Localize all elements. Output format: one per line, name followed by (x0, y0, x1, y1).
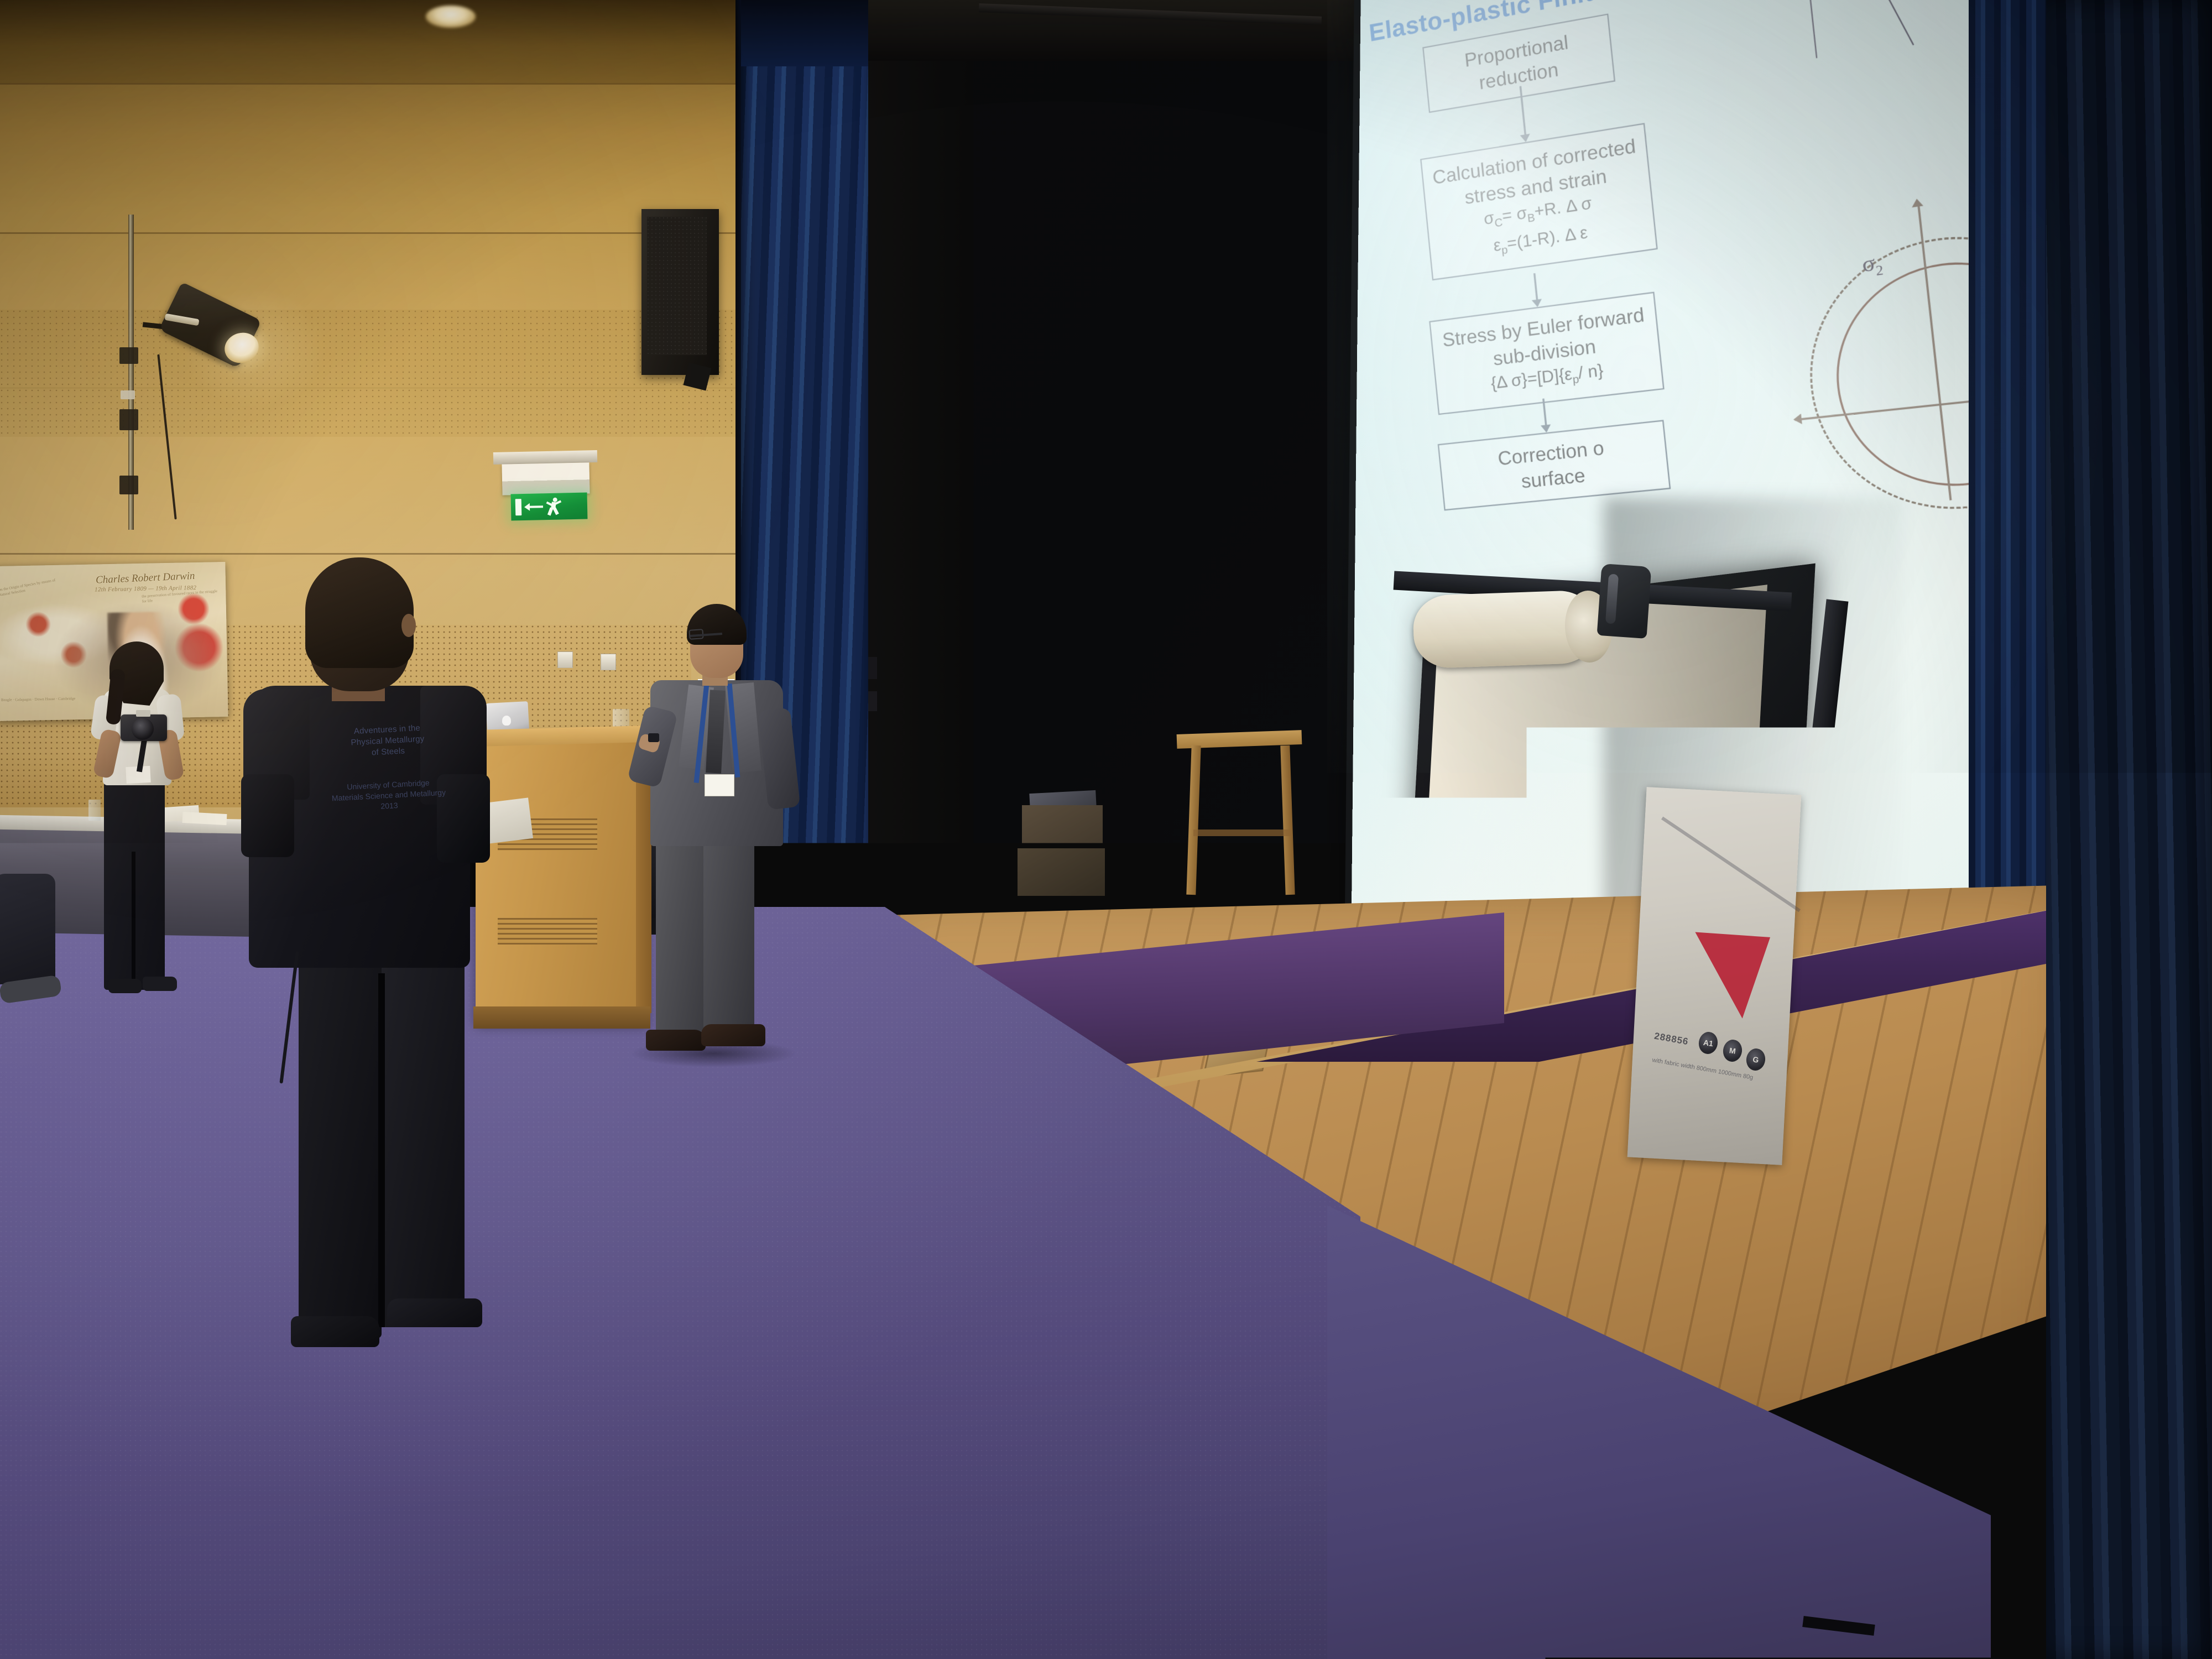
attendee-leg (382, 940, 465, 1327)
photographer-sandal (108, 979, 142, 993)
foreground-curtain (2046, 0, 2212, 1659)
running-man-icon (546, 498, 562, 516)
water-glass (88, 800, 101, 821)
easel-paper-clamp[interactable] (1597, 564, 1652, 639)
ceiling-downlight-icon (426, 6, 476, 28)
axis-label-sigma2: σ2 (1861, 250, 1884, 281)
attendee-leg-gap (378, 973, 385, 1327)
lectern-base (473, 1006, 650, 1029)
rail-label (121, 390, 135, 399)
diagram-axis (1786, 0, 1818, 58)
attendee-hair (305, 557, 414, 668)
exit-sign-housing (502, 462, 589, 495)
photographer-sandal (143, 977, 177, 991)
wall-seam (0, 83, 807, 85)
mural-script-left: On the Origin of Species by means of Nat… (0, 576, 65, 598)
photographer-leg-gap (132, 852, 135, 990)
flowchart-box-euler-forward: Stress by Euler forward sub-division {Δ … (1429, 292, 1665, 415)
cardboard-box (1018, 848, 1105, 896)
stool-rail (1193, 830, 1292, 836)
curtain-top-shadow (741, 0, 868, 66)
presenter-leg (656, 830, 705, 1040)
presenter-shoe (701, 1024, 765, 1046)
seated-audience-member (0, 874, 55, 984)
wall-socket-plate (557, 651, 573, 668)
lectern-side-panel (636, 748, 651, 1013)
lectern-vent-grille (498, 918, 597, 945)
wooden-lectern (476, 735, 647, 1023)
flow-arrow-down-icon (1533, 273, 1538, 306)
conference-name-badge (705, 774, 734, 796)
camera-flash-icon (136, 710, 150, 717)
tshirt-sleeve (241, 774, 294, 857)
wall-socket-plate (601, 654, 616, 670)
attendee-leg (299, 940, 382, 1338)
wall-seam (0, 553, 807, 555)
flowchart-box-corrected-stress: Calculation of corrected stress and stra… (1420, 123, 1658, 280)
arrow-left-icon (524, 503, 543, 511)
speaker-grille (647, 217, 707, 355)
lecture-theatre-photo: On the Origin of Species by means of Nat… (0, 0, 2212, 1659)
flowchart-box-correction-surface: Correction o surface (1438, 420, 1671, 510)
attendee-shoe (387, 1298, 482, 1327)
attendee-shoe (291, 1316, 379, 1347)
flow-arrow-down-icon (1542, 399, 1547, 431)
presenter-leg (703, 826, 754, 1036)
ceiling (0, 0, 807, 83)
rail-clamp (119, 347, 138, 364)
rail-clamp (119, 476, 138, 494)
presenter-shoe (646, 1030, 706, 1051)
attendee-ear (401, 614, 416, 637)
emergency-exit-sign (511, 493, 588, 521)
marker-red[interactable] (1395, 1326, 1415, 1392)
presentation-clicker[interactable] (648, 733, 659, 742)
mural-script-bottom: Beagle · Galapagos · Down House · Cambri… (1, 696, 95, 703)
camera-lens-icon (132, 718, 154, 740)
diagram-line (1785, 0, 1914, 45)
paper-stack (182, 812, 227, 825)
rail-clamp (119, 409, 138, 430)
exit-doorway-icon (515, 499, 522, 515)
apple-logo-icon (502, 716, 511, 726)
